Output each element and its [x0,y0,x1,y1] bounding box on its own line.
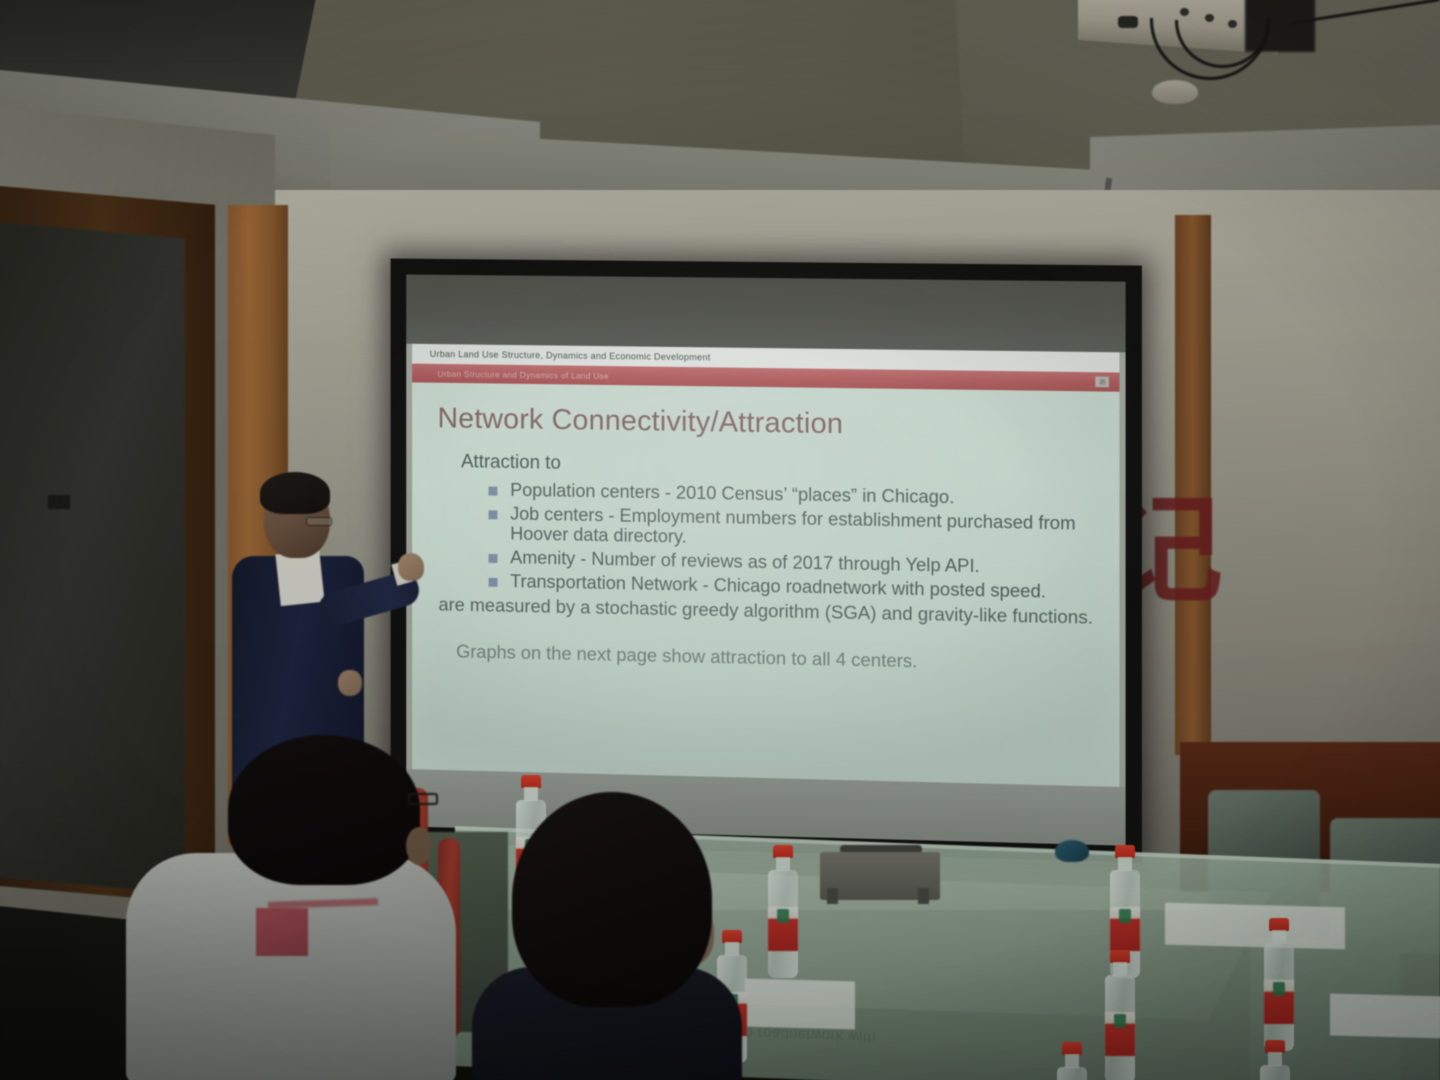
presenter-hair [260,472,330,514]
tshirt-logo [256,908,308,956]
small-blue-object [1055,840,1089,862]
slide-header-title: Urban Land Use Structure, Dynamics and E… [412,349,710,363]
slide-bullet-list: Population centers - 2010 Census’ “place… [489,480,1093,603]
audience-body [126,853,456,1080]
presentation-slide: Urban Land Use Structure, Dynamics and E… [412,344,1119,787]
audience-hair [512,792,712,1007]
bullet-square-icon [489,554,498,563]
presenter-shirt-collar [275,550,324,606]
bottle-neck [1065,1054,1079,1068]
projection-screen: Urban Land Use Structure, Dynamics and E… [391,259,1142,863]
bottle-neck [776,857,790,871]
microphone-foot [827,888,838,904]
audience-ear [406,827,432,865]
projector-vent-dot [1180,8,1189,16]
slide-body: Network Connectivity/Attraction Attracti… [412,382,1119,677]
bottle-body [1057,1067,1087,1080]
bullet-square-icon [489,510,498,519]
bottle-neck [1118,857,1132,871]
slide-title: Network Connectivity/Attraction [438,403,1093,445]
slide-page-number: 35 [1095,376,1109,387]
projection-screen-surface: Urban Land Use Structure, Dynamics and E… [406,274,1125,845]
projector-lens-icon [1118,16,1138,28]
paper-sheet [1165,903,1345,950]
bottle-label-mark [777,909,789,923]
glasses-icon [306,517,332,526]
bullet-square-icon [489,577,498,586]
bottle-label-mark [1114,1014,1126,1028]
bottle-label-mark [1273,982,1285,996]
audience-hair [228,735,420,885]
presentation-photo-scene: 记 Urban Land Use Structure, Dynamics and… [0,0,1440,1080]
paper-sheet [745,979,855,1030]
presenter-lower-hand [338,670,362,696]
bottle-neck [1113,962,1127,976]
screen-unlit-top-area [406,274,1125,352]
smoke-detector-icon [1152,80,1198,104]
slide-bullet-text: Job centers - Employment numbers for est… [510,502,1075,547]
bottle-body [1260,1065,1290,1080]
bottle-neck [1272,930,1286,944]
audience-member-left [88,735,463,1080]
microphone-foot [918,888,929,904]
bullet-square-icon [489,487,498,496]
presenter-pointing-hand [398,553,424,581]
slide-section-label: Urban Structure and Dynamics of Land Use [412,368,609,380]
slide-lead-line: Attraction to [461,451,1093,483]
slide-closing-sentence: Graphs on the next page show attraction … [456,641,1093,677]
door-plate [48,495,70,509]
bottle-label-mark [1119,909,1131,923]
audience-member-center [430,792,740,1080]
paper-sheet [1330,993,1440,1038]
bottle-neck [1268,1052,1282,1066]
